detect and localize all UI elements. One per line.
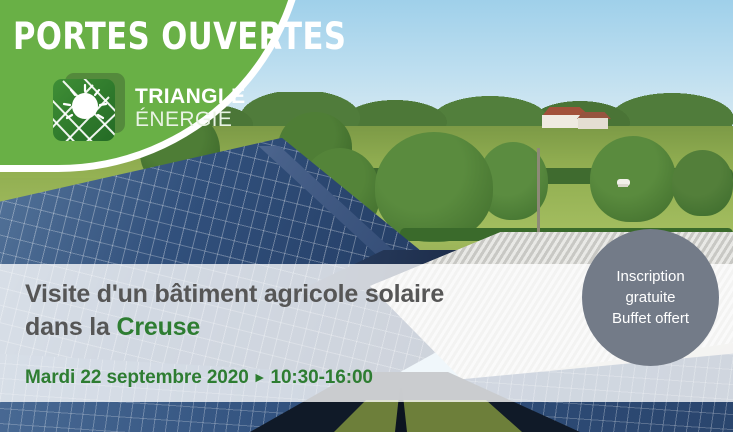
brand-name-line1: TRIANGLE xyxy=(135,86,246,107)
event-datetime: Mardi 22 septembre 2020►10:30-16:00 xyxy=(25,367,373,389)
registration-badge: Inscription gratuite Buffet offert xyxy=(582,229,719,366)
event-location: Creuse xyxy=(117,313,201,341)
triangle-energie-solar-sun-logo xyxy=(53,73,125,145)
registration-badge-text: Inscription gratuite Buffet offert xyxy=(612,266,689,330)
brand-name-line2: ÉNERGIE xyxy=(135,109,246,130)
badge-line-3: Buffet offert xyxy=(612,310,689,327)
badge-line-2: gratuite xyxy=(625,289,675,306)
brand-wordmark: TRIANGLE ÉNERGIE xyxy=(135,86,246,133)
badge-line-1: Inscription xyxy=(616,268,684,285)
datetime-separator-icon: ► xyxy=(253,369,267,385)
event-date: Mardi 22 septembre 2020 xyxy=(25,367,249,388)
eyebrow-heading: PORTES OUVERTES xyxy=(13,18,346,55)
event-title-line2-prefix: dans la xyxy=(25,313,117,341)
event-title: Visite d'un bâtiment agricole solaire da… xyxy=(25,278,585,345)
event-poster: PORTES OUVERTES xyxy=(0,0,733,432)
event-hours: 10:30-16:00 xyxy=(270,367,372,388)
brand-logo: TRIANGLE ÉNERGIE xyxy=(53,73,246,145)
event-title-line1: Visite d'un bâtiment agricole solaire xyxy=(25,280,444,308)
